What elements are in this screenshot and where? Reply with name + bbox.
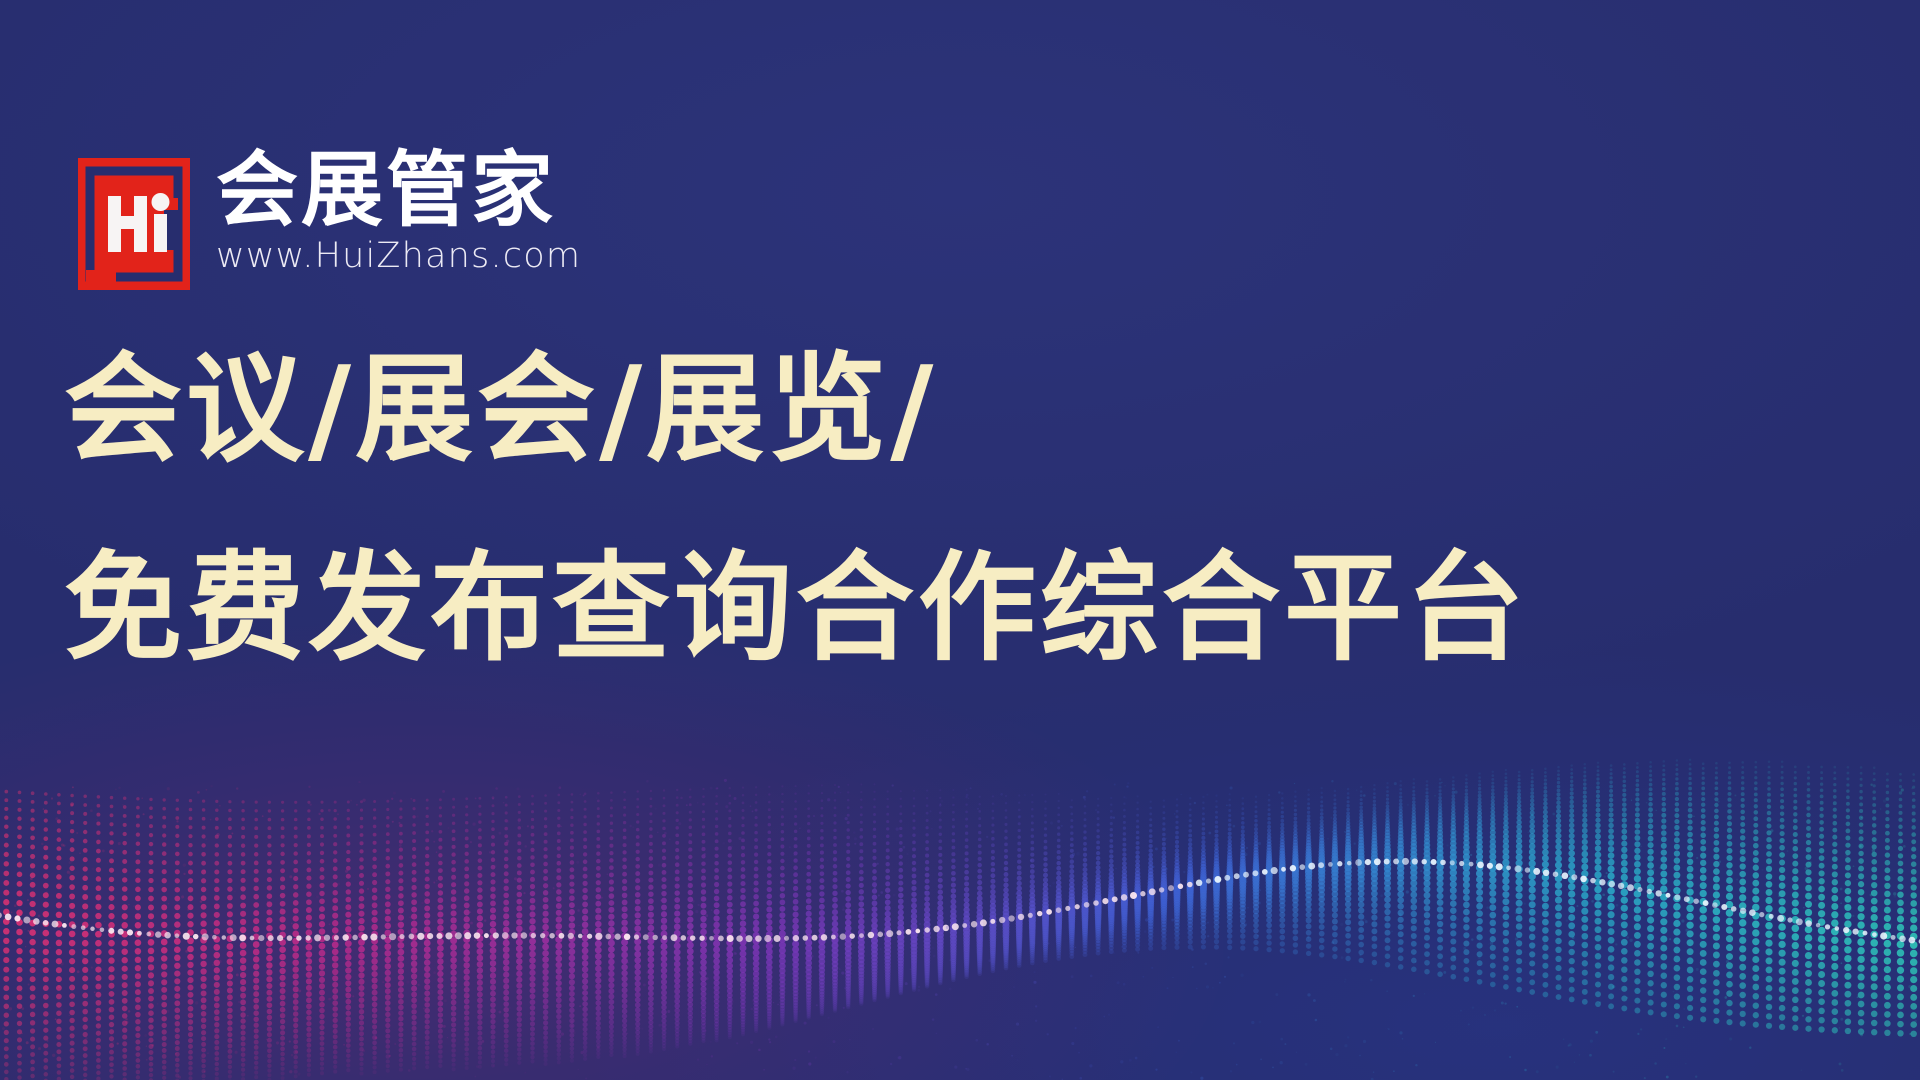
brand-website-url[interactable]: www.HuiZhans.com bbox=[216, 239, 581, 274]
brand-title: 会展管家 bbox=[216, 152, 581, 231]
headline-line-2: 免费发布查询合作综合平台 bbox=[64, 545, 1864, 672]
particle-wave-decoration bbox=[0, 750, 1920, 1080]
huizhans-hi-monogram-icon bbox=[78, 158, 190, 290]
headline-block: 会议/展会/展览/ 免费发布查询合作综合平台 bbox=[64, 346, 1864, 673]
brand-text-block: 会展管家 www.HuiZhans.com bbox=[216, 152, 581, 274]
headline-line-1: 会议/展会/展览/ bbox=[64, 346, 1864, 473]
promo-banner: 会展管家 www.HuiZhans.com 会议/展会/展览/ 免费发布查询合作… bbox=[0, 0, 1920, 1080]
brand-logo-lockup[interactable]: 会展管家 www.HuiZhans.com bbox=[78, 152, 581, 290]
